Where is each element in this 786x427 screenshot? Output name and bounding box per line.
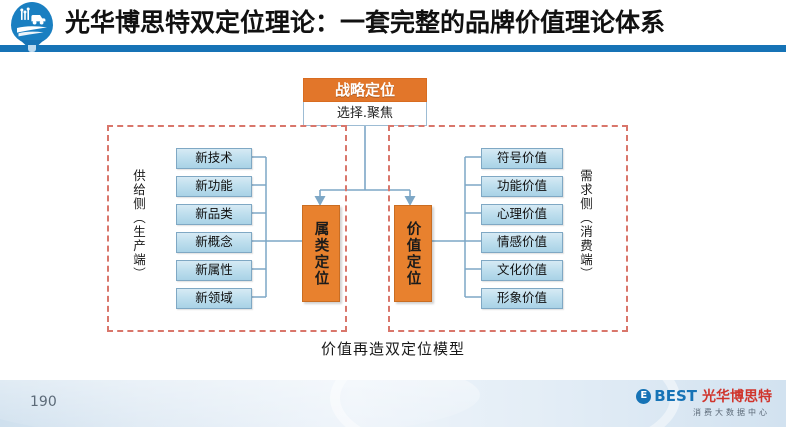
demand-item[interactable]: 符号价值 xyxy=(481,148,563,169)
demand-side-label: 需求侧（消费端） xyxy=(578,169,593,281)
brand-logo: E BEST 光华博思特 消费大数据中心 xyxy=(636,386,772,418)
footer-decoration-ring xyxy=(330,380,680,427)
value-positioning-label: 价值定位 xyxy=(395,206,431,301)
page-number: 190 xyxy=(30,394,57,410)
demand-item[interactable]: 心理价值 xyxy=(481,204,563,225)
strategy-subtitle: 选择.聚焦 xyxy=(303,102,427,126)
strategy-title: 战略定位 xyxy=(303,78,427,102)
supply-item[interactable]: 新品类 xyxy=(176,204,252,225)
category-positioning-label: 属类定位 xyxy=(303,206,339,301)
demand-item[interactable]: 功能价值 xyxy=(481,176,563,197)
brand-subtitle: 消费大数据中心 xyxy=(636,407,770,418)
page-title: 光华博思特双定位理论：一套完整的品牌价值理论体系 xyxy=(65,3,665,43)
slide: 光华博思特双定位理论：一套完整的品牌价值理论体系 xyxy=(0,0,786,427)
demand-item[interactable]: 形象价值 xyxy=(481,288,563,309)
header-accent-bar xyxy=(0,45,786,52)
demand-item[interactable]: 情感价值 xyxy=(481,232,563,253)
brand-name: BEST xyxy=(654,387,697,405)
demand-item[interactable]: 文化价值 xyxy=(481,260,563,281)
supply-item[interactable]: 新概念 xyxy=(176,232,252,253)
slide-footer: 190 E BEST 光华博思特 消费大数据中心 xyxy=(0,380,786,427)
supply-item[interactable]: 新属性 xyxy=(176,260,252,281)
diagram-caption: 价值再造双定位模型 xyxy=(0,338,786,359)
diagram-canvas: 战略定位 选择.聚焦 供给侧（生产端） 需求侧（消费端） 新技术 新功能 新品类… xyxy=(0,53,786,380)
strategy-box: 战略定位 选择.聚焦 xyxy=(303,78,427,126)
category-positioning-box[interactable]: 属类定位 xyxy=(302,205,340,302)
brand-name-cn: 光华博思特 xyxy=(702,386,772,406)
header-bar-notch xyxy=(28,45,36,52)
supply-side-label: 供给侧（生产端） xyxy=(131,169,146,281)
slide-header: 光华博思特双定位理论：一套完整的品牌价值理论体系 xyxy=(0,0,786,53)
value-positioning-box[interactable]: 价值定位 xyxy=(394,205,432,302)
supply-item[interactable]: 新功能 xyxy=(176,176,252,197)
brand-mark-icon: E xyxy=(636,389,651,404)
supply-item[interactable]: 新领域 xyxy=(176,288,252,309)
supply-item[interactable]: 新技术 xyxy=(176,148,252,169)
